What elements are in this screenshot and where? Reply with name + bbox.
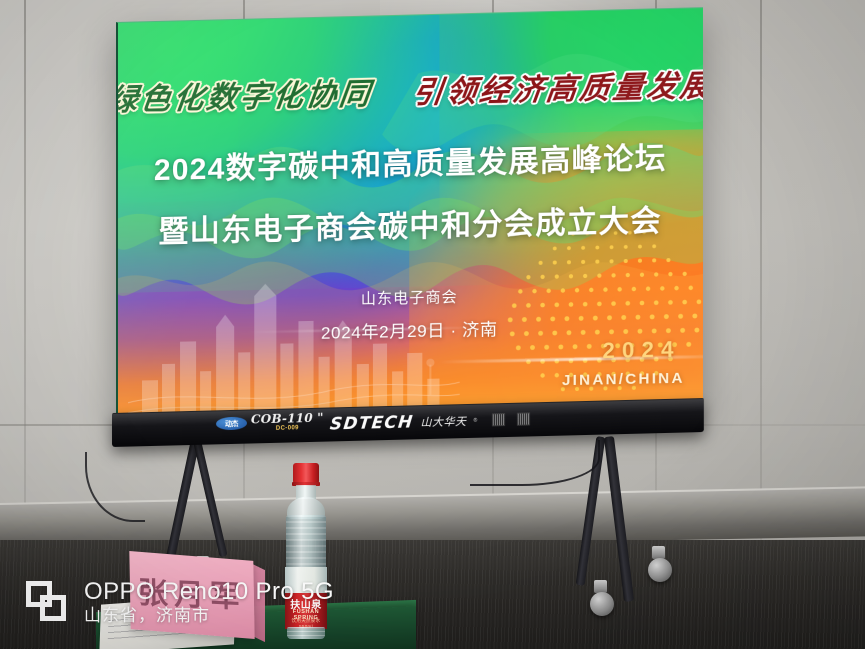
wall-panel-seam <box>760 0 762 560</box>
year-badge: 2024 <box>602 336 680 364</box>
bottle-cap <box>293 463 319 483</box>
bezel-center-branding: SDTECH 山大华天 ® <box>330 411 477 435</box>
logo-square-inner <box>40 595 66 621</box>
manufacturer-logo-cn: 山大华天 <box>420 413 466 430</box>
wall-panel-seam <box>24 0 26 560</box>
oppo-square-logo-icon <box>26 581 68 623</box>
qr-code-icon <box>517 412 530 425</box>
slogan-left: 绿色化数字化协同 <box>116 69 375 120</box>
qr-code-icon <box>492 413 505 426</box>
slogan-right: 引领经济高质量发展 <box>410 60 703 112</box>
caster-wheel-mid <box>590 592 614 616</box>
watermark-location: 山东省，济南市 <box>84 606 334 627</box>
bezel-qr-codes <box>492 412 530 426</box>
led-display-panel[interactable]: 绿色化数字化协同 引领经济高质量发展 2024数字碳中和高质量发展高峰论坛 暨山… <box>116 7 703 422</box>
watermark-device-name: OPPO Reno10 Pro 5G <box>84 577 334 606</box>
led-screen-surface: 绿色化数字化协同 引领经济高质量发展 2024数字碳中和高质量发展高峰论坛 暨山… <box>116 7 703 422</box>
brand-badge-icon: 动杰 <box>216 417 247 431</box>
manufacturer-logo-text: SDTECH <box>329 412 415 434</box>
display-model: COB-110 " <box>251 412 324 426</box>
registered-trademark-icon: ® <box>473 418 477 424</box>
camera-watermark: OPPO Reno10 Pro 5G 山东省，济南市 <box>26 577 334 627</box>
watermark-text-block: OPPO Reno10 Pro 5G 山东省，济南市 <box>84 577 334 627</box>
bottle-body-lower <box>287 627 325 639</box>
city-badge: JINAN/CHINA <box>562 370 685 390</box>
bezel-left-branding: 动杰 COB-110 " DC-009 <box>216 412 324 434</box>
caster-wheel-right <box>648 558 672 582</box>
photo-canvas: 绿色化数字化协同 引领经济高质量发展 2024数字碳中和高质量发展高峰论坛 暨山… <box>0 0 865 649</box>
